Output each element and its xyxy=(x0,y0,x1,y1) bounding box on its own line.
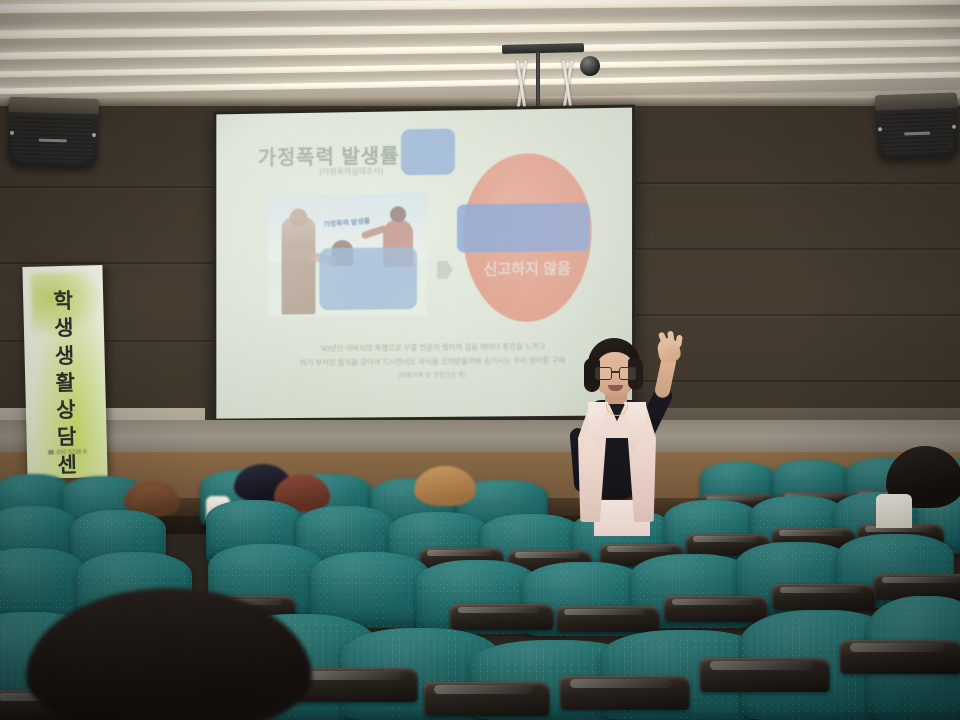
ceiling-edge-trim xyxy=(0,98,960,106)
speaker-mount-bolt xyxy=(952,124,956,128)
speaker-mount-bolt xyxy=(878,127,882,131)
seat-armrest xyxy=(450,604,554,630)
banner-char: 생 xyxy=(24,314,105,343)
audience-shirt xyxy=(876,494,912,528)
ceiling xyxy=(0,0,960,104)
wall-panel-seam xyxy=(636,182,960,184)
seat-armrest xyxy=(700,658,830,692)
seat-armrest xyxy=(556,606,660,632)
wall-speaker-left xyxy=(7,97,99,169)
speaker-top-bracket xyxy=(875,93,957,110)
wall-panel-seam xyxy=(0,262,214,264)
arrow-right-icon xyxy=(437,261,453,279)
seat-armrest xyxy=(560,676,690,710)
wall-panel-seam xyxy=(636,248,960,250)
wall-panel-seam xyxy=(636,314,960,316)
slide-blue-badge-photo xyxy=(319,247,417,310)
presenter-finger xyxy=(667,331,675,346)
projector-ceiling-knob xyxy=(580,56,600,76)
pie-chart-label: 신고하지 않음 xyxy=(477,257,577,279)
presenter-finger xyxy=(675,335,683,348)
auditorium-photo: 가정폭력 발생률 (가정폭력실태조사) 가정폭력 발생률 신고하지 않음 xyxy=(0,0,960,720)
slide-subtitle: (가정폭력실태조사) xyxy=(319,166,383,178)
speaker-mount-bolt xyxy=(10,130,14,134)
banner-char: 학 xyxy=(23,287,104,316)
slide-blue-badge-band xyxy=(457,203,590,253)
banner-char: 활 xyxy=(25,369,106,398)
banner-char: 상 xyxy=(26,396,107,425)
seat-armrest xyxy=(424,682,550,716)
presenter-glasses xyxy=(595,367,635,378)
speaker-top-bracket xyxy=(9,97,99,115)
projector-mount-plate xyxy=(502,43,584,54)
seat-armrest xyxy=(296,668,418,702)
center-banner: 학 생 생 활 상 담 센 터 ☎ 850 5236 8 xyxy=(22,265,107,479)
wall-speaker-right xyxy=(875,93,959,162)
slide-photo-inset: 가정폭력 발생률 xyxy=(268,193,427,317)
glasses-lens xyxy=(595,367,612,380)
glasses-lens xyxy=(619,367,636,380)
slide-blue-badge-top xyxy=(401,128,455,175)
speaker-mount-bolt xyxy=(92,133,96,137)
banner-char: 생 xyxy=(24,342,105,371)
projector-drop-pole xyxy=(536,52,540,110)
glasses-bridge xyxy=(611,371,619,373)
wall-panel-seam xyxy=(0,186,214,188)
presenter xyxy=(548,332,708,522)
seat-armrest xyxy=(772,584,876,610)
photo-presenter-body xyxy=(282,216,316,314)
seat-armrest xyxy=(840,640,960,674)
seat-armrest xyxy=(664,596,768,622)
